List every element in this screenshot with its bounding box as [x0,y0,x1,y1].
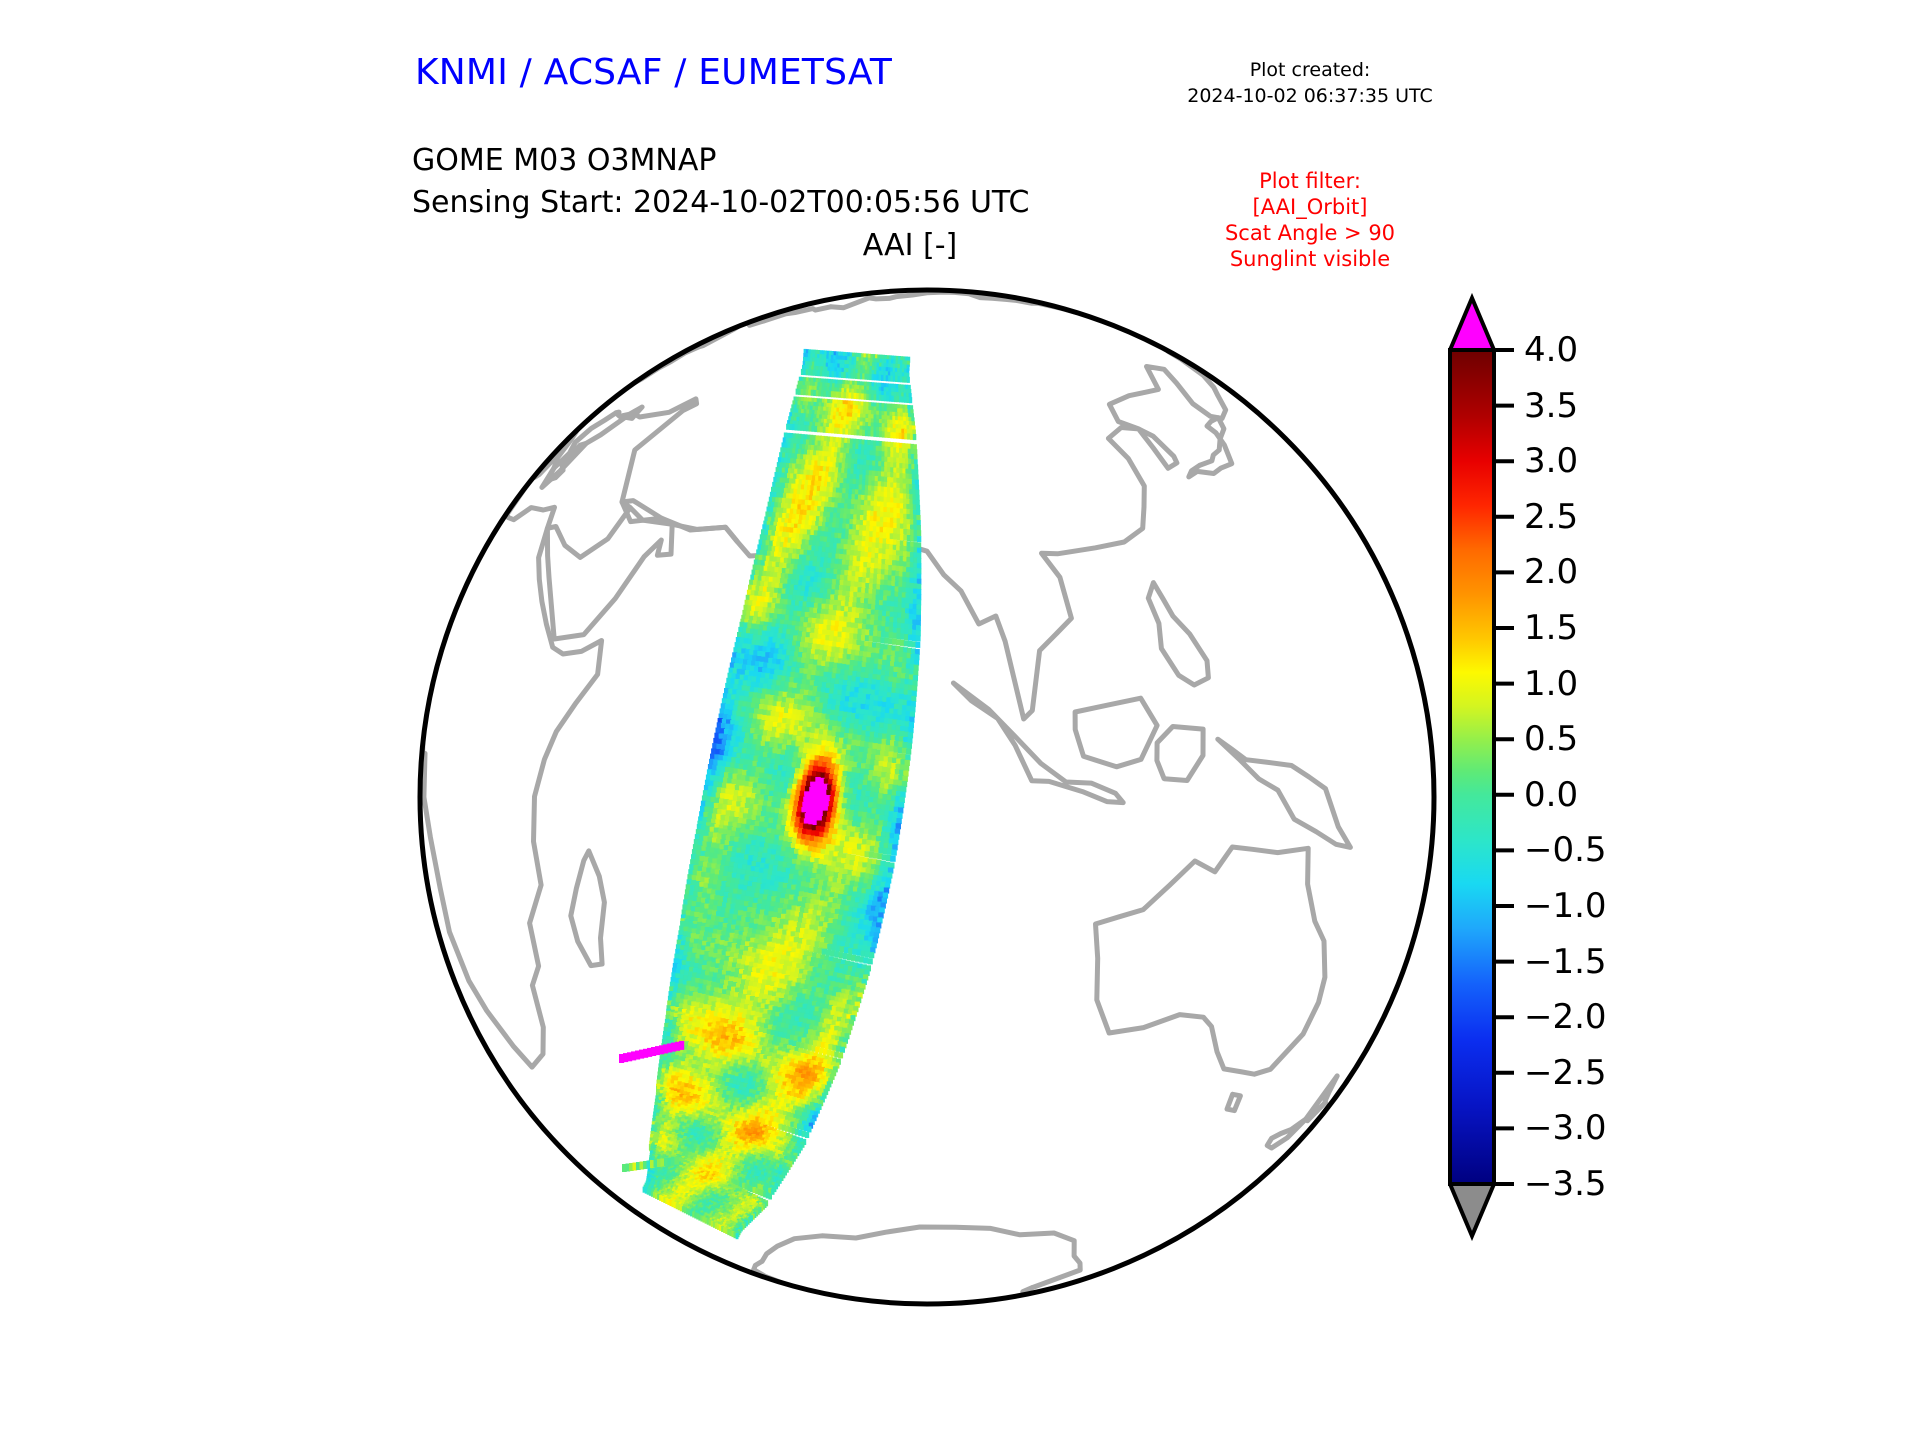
swath-cell [913,675,918,681]
swath-cell [892,844,898,850]
swath-cell [905,755,910,761]
institutes-title: KNMI / ACSAF / EUMETSAT [415,52,892,93]
swath-cell [913,670,918,676]
swath-cell [895,829,900,835]
swath-cell [907,743,912,749]
swath-cell [915,649,920,655]
plot-filter-line2: Scat Angle > 90 [1165,220,1455,246]
swath-cell [902,781,907,787]
plot-created-label: Plot created: [1165,57,1455,83]
swath-cell [907,738,912,744]
swath-cell [917,536,921,542]
swath-cell [897,813,902,819]
swath-cell [909,717,914,723]
swath-cell [910,706,915,712]
swath-cell [913,434,917,440]
product-block: GOME M03 O3MNAP Sensing Start: 2024-10-0… [412,140,1029,224]
globe-map [414,284,1440,1310]
swath-cell [903,776,908,782]
swath-cell [891,850,897,856]
swath-cell [913,680,918,686]
sensing-start: Sensing Start: 2024-10-02T00:05:56 UTC [412,182,1029,224]
swath-cell [899,802,904,808]
swath-cell [916,635,921,641]
plot-created-block: Plot created: 2024-10-02 06:37:35 UTC [1165,57,1455,109]
quantity-label: AAI [-] [760,228,1060,263]
swath-cell [912,691,917,697]
plot-filter-title: Plot filter: [1165,168,1455,194]
swath-cell [907,377,910,383]
swath-cell [909,722,914,728]
plot-filter-line1: [AAI_Orbit] [1165,194,1455,220]
swath-cell [893,839,898,845]
swath-cell [915,654,920,660]
swath-cell [911,701,916,707]
swath-cell [915,642,920,648]
swath-cell [896,818,901,824]
swath-cell [908,732,913,738]
globe-svg [414,284,1440,1310]
swath-cell [911,696,916,702]
swath-cell [905,760,910,766]
swath-cell [896,823,901,829]
swath-cell [903,771,908,777]
plot-filter-line3: Sunglint visible [1165,246,1455,272]
swath-cell [912,686,917,692]
swath-cell [910,712,915,718]
swath-cell [894,834,899,840]
swath-cell [914,660,919,666]
swath-cell [898,807,903,813]
swath-cell [900,797,905,803]
swath-cell [900,792,905,798]
swath-cell [890,856,896,862]
swath-cell [917,530,921,536]
swath-cell [906,749,911,755]
swath-cell [901,786,906,792]
swath-cell [908,727,913,733]
swath-cell [904,765,909,771]
product-name: GOME M03 O3MNAP [412,140,1029,182]
swath-cell [909,397,912,403]
swath-cell [914,665,919,671]
plot-filter-block: Plot filter: [AAI_Orbit] Scat Angle > 90… [1165,168,1455,272]
plot-created-time: 2024-10-02 06:37:35 UTC [1165,83,1455,109]
